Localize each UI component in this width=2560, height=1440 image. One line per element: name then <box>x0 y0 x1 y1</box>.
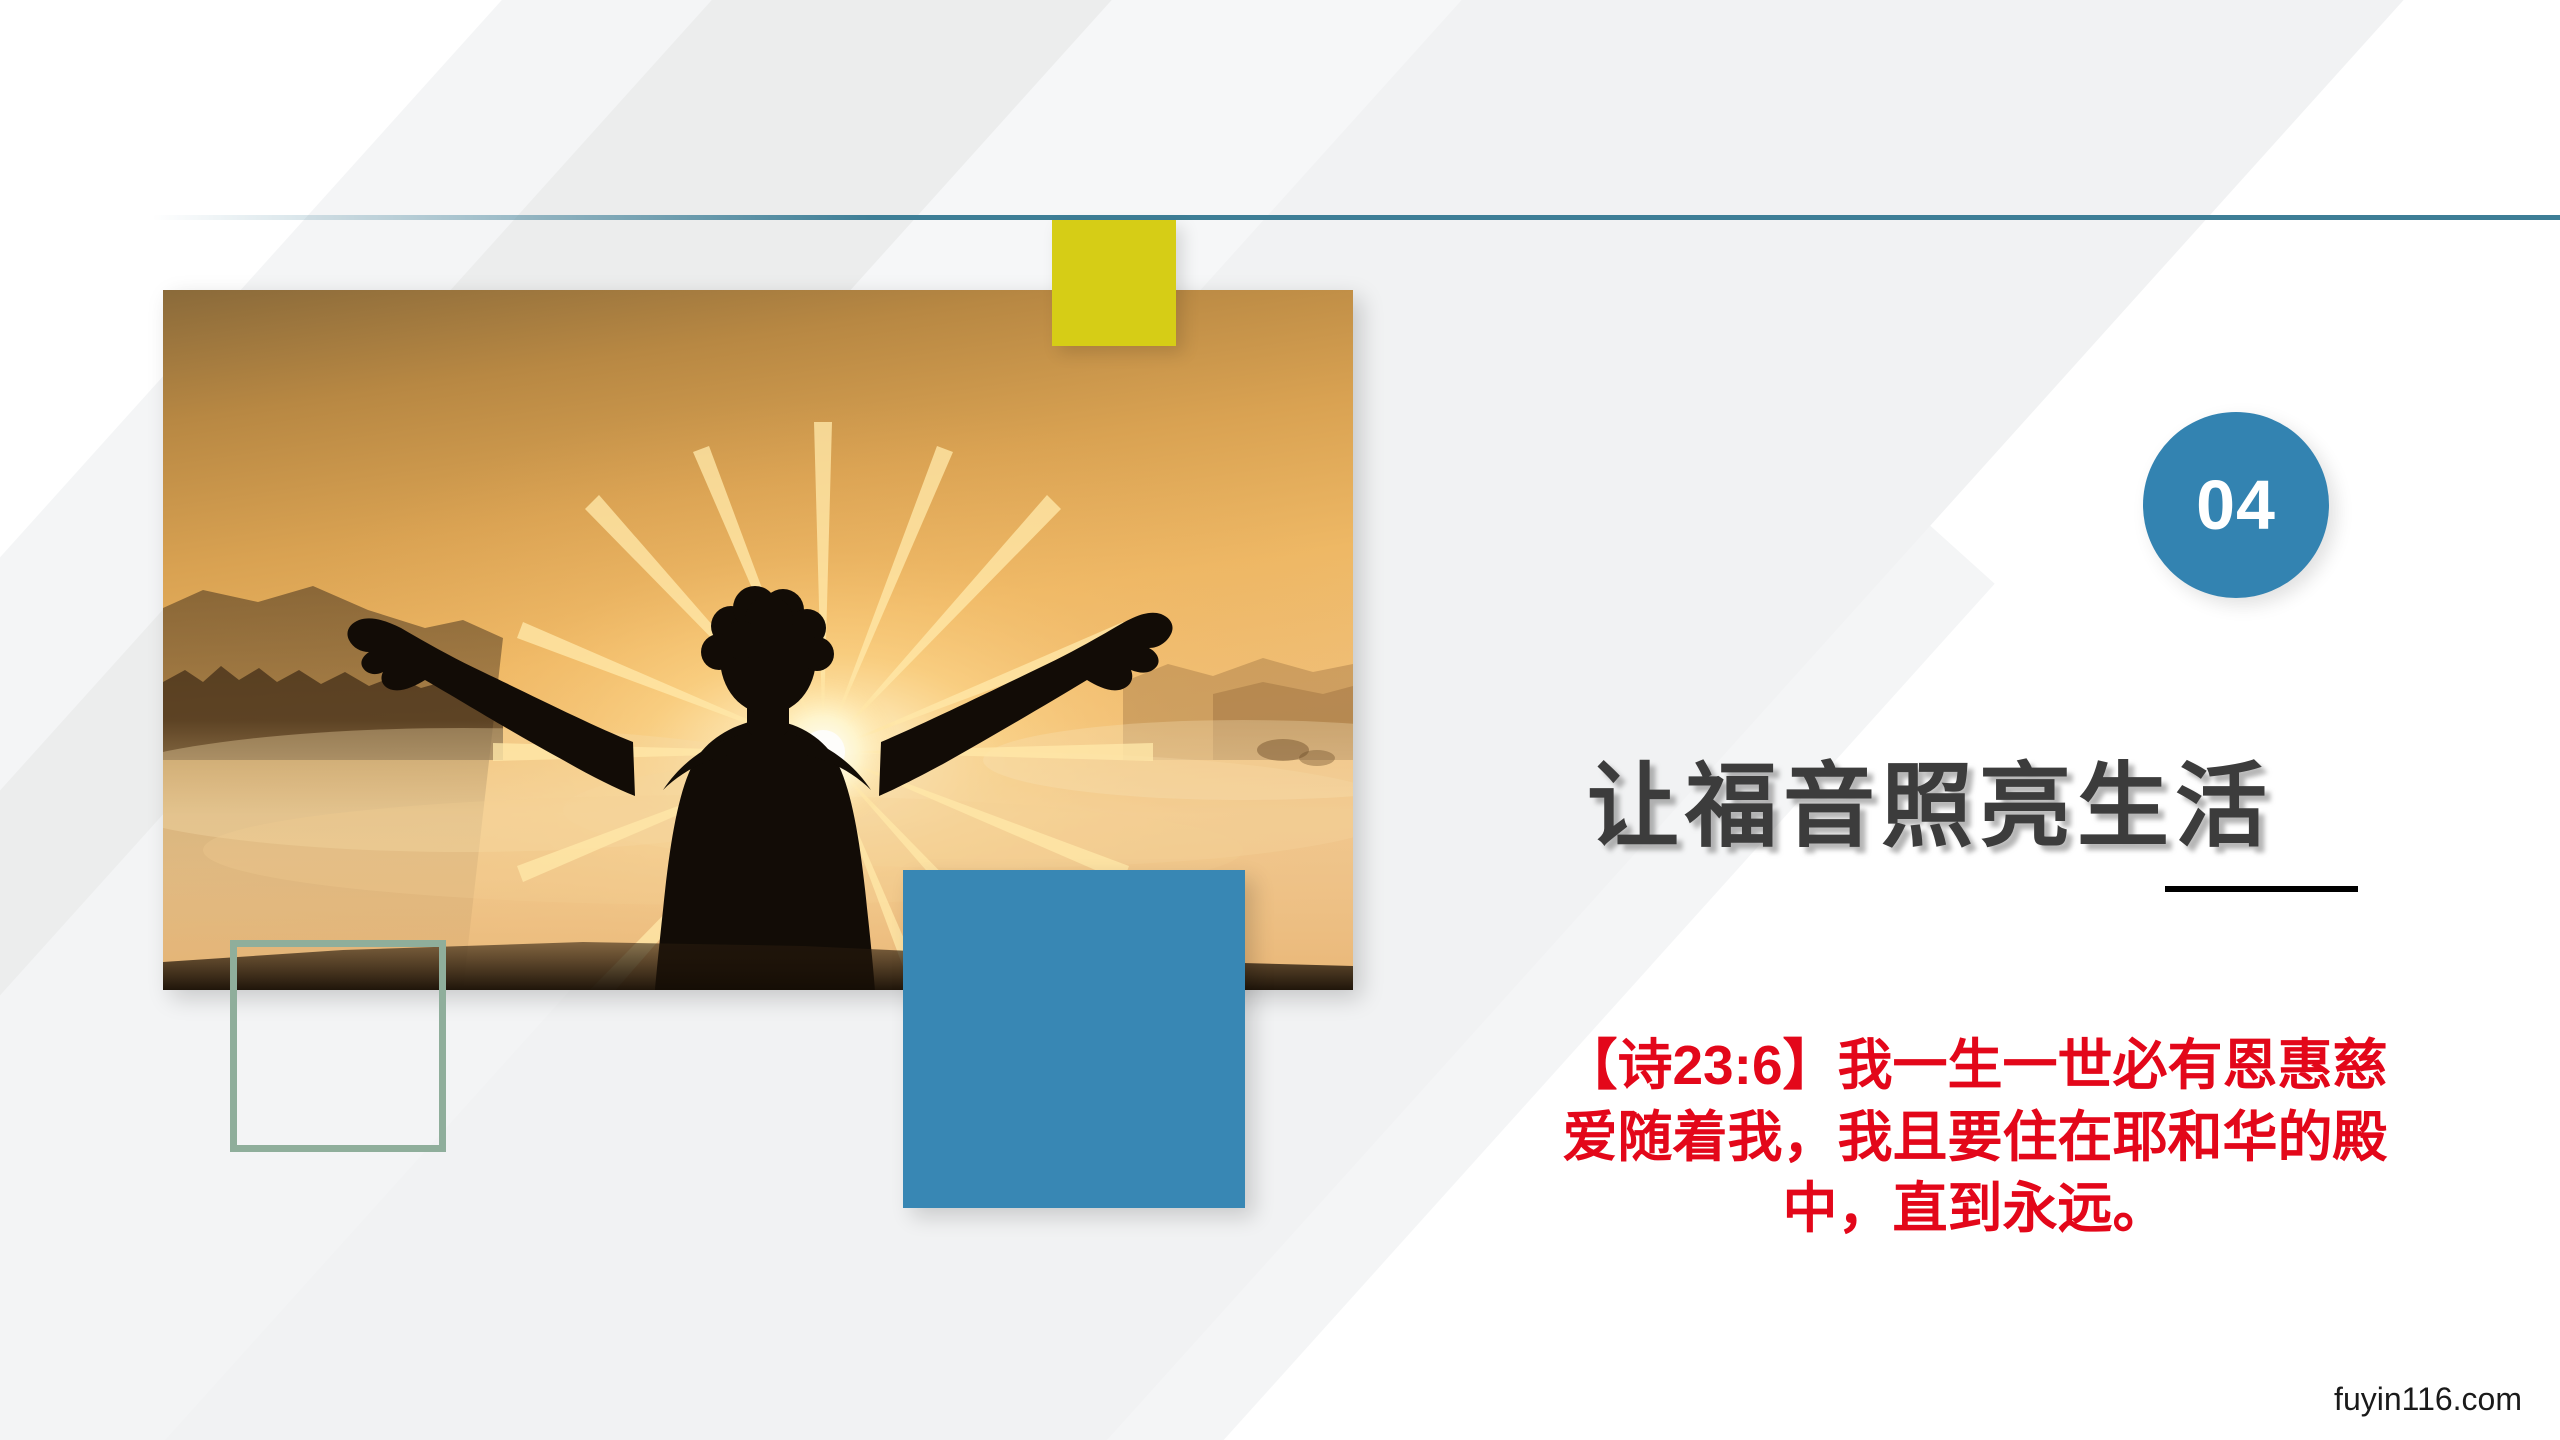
scripture-verse: 【诗23:6】我一生一世必有恩惠慈爱随着我，我且要住在耶和华的殿中，直到永远。 <box>1540 1030 2410 1245</box>
yellow-accent-rectangle <box>1052 220 1176 346</box>
blue-accent-square <box>903 870 1245 1208</box>
page-title: 让福音照亮生活 <box>1380 732 2480 865</box>
slide-canvas: 04 让福音照亮生活 【诗23:6】我一生一世必有恩惠慈爱随着我，我且要住在耶和… <box>0 0 2560 1440</box>
title-divider <box>2165 886 2358 892</box>
green-outline-square <box>230 940 446 1152</box>
header-rule <box>152 215 2560 220</box>
site-watermark: fuyin116.com <box>2334 1381 2522 1418</box>
section-number-badge: 04 <box>2143 412 2329 598</box>
